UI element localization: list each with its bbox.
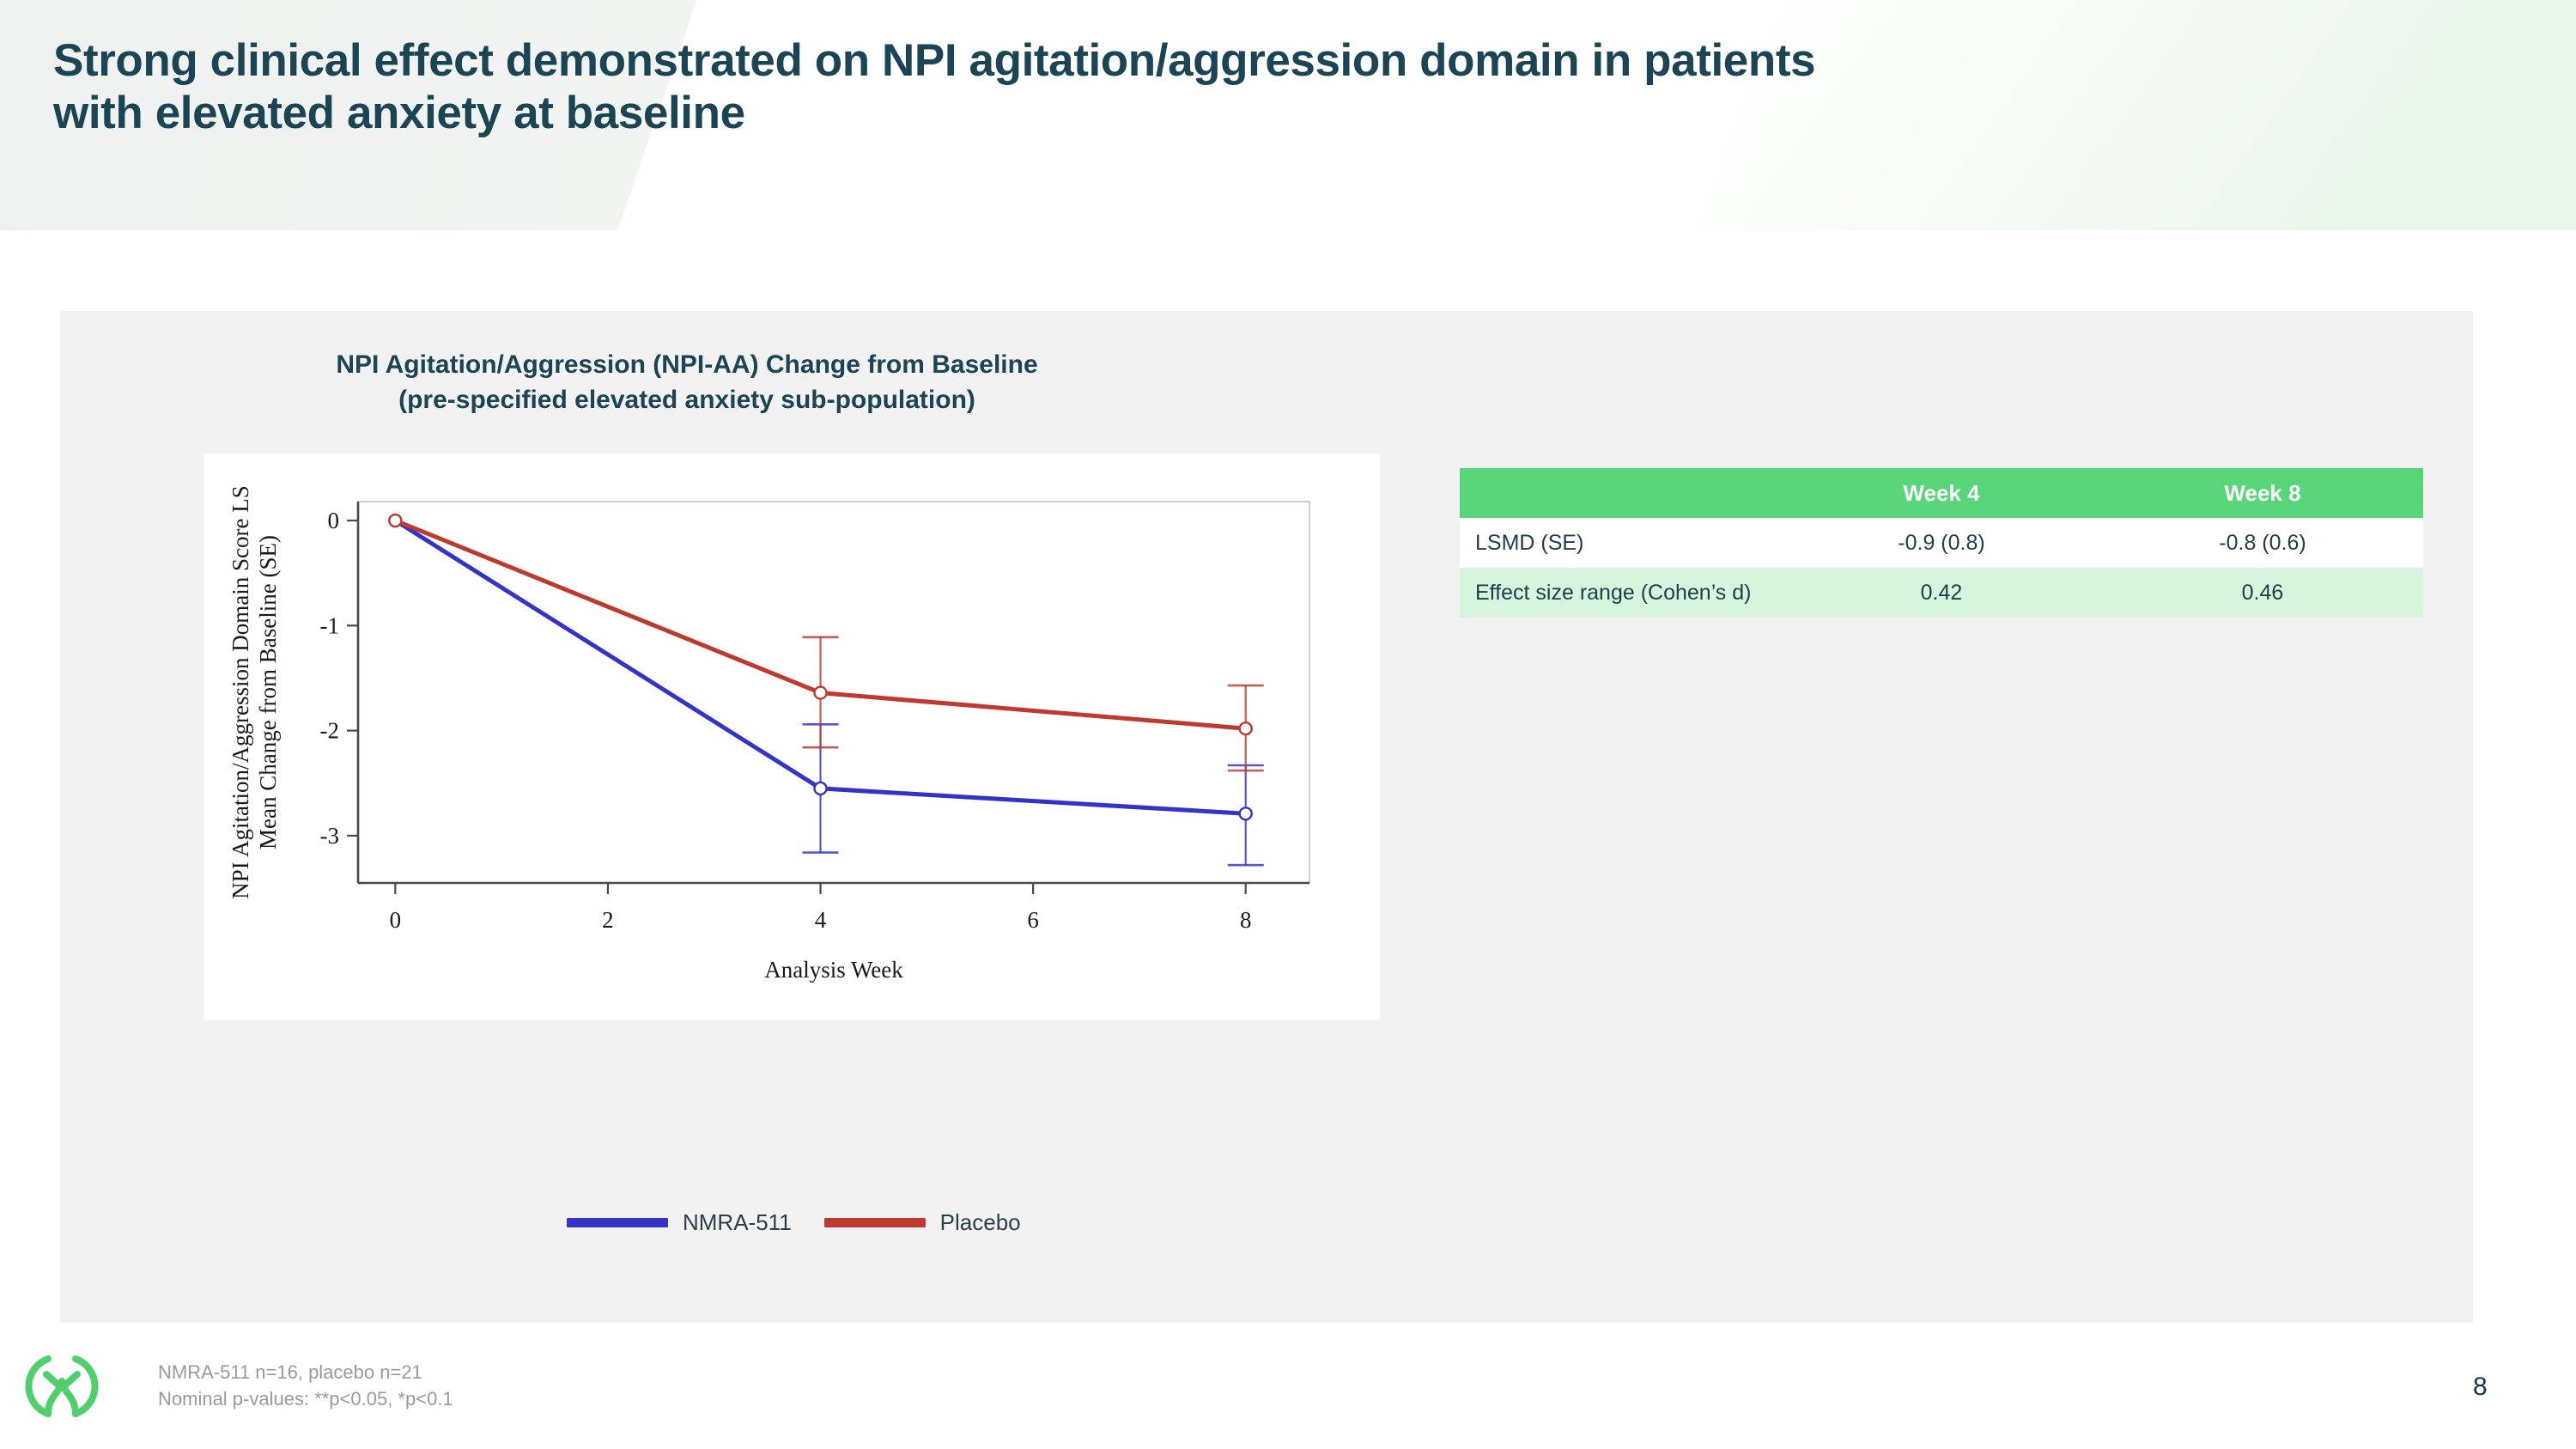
legend-item-treatment: NMRA-511 bbox=[567, 1209, 792, 1236]
slide-header: Strong clinical effect demonstrated on N… bbox=[0, 0, 2576, 230]
svg-text:8: 8 bbox=[1240, 907, 1252, 933]
svg-text:0: 0 bbox=[328, 508, 340, 533]
footnotes: NMRA-511 n=16, placebo n=21 Nominal p-va… bbox=[158, 1359, 453, 1412]
table-cell-label: Effect size range (Cohen’s d) bbox=[1460, 568, 1781, 618]
svg-text:-2: -2 bbox=[320, 718, 340, 744]
table-cell-label: LSMD (SE) bbox=[1460, 518, 1781, 568]
page-number: 8 bbox=[2473, 1373, 2488, 1402]
legend-label-treatment: NMRA-511 bbox=[683, 1209, 792, 1236]
table-row: Effect size range (Cohen’s d) 0.42 0.46 bbox=[1460, 568, 2423, 618]
chart-card: 024680-1-2-3Analysis WeekNPI Agitation/A… bbox=[204, 454, 1380, 1020]
table-header-blank bbox=[1460, 468, 1781, 518]
svg-text:4: 4 bbox=[815, 907, 827, 933]
results-table: Week 4 Week 8 LSMD (SE) -0.9 (0.8) -0.8 … bbox=[1460, 468, 2423, 618]
legend-swatch-placebo bbox=[824, 1218, 926, 1227]
svg-text:0: 0 bbox=[390, 907, 402, 933]
legend-label-placebo: Placebo bbox=[940, 1209, 1021, 1236]
table-cell-week8: 0.46 bbox=[2102, 568, 2423, 618]
table-header-week4: Week 4 bbox=[1781, 468, 2102, 518]
table-cell-week4: 0.42 bbox=[1781, 568, 2102, 618]
company-logo-icon bbox=[22, 1347, 101, 1426]
content-panel: NPI Agitation/Aggression (NPI-AA) Change… bbox=[60, 311, 2473, 1323]
svg-text:6: 6 bbox=[1027, 907, 1039, 933]
table-cell-week8: -0.8 (0.6) bbox=[2102, 518, 2423, 568]
svg-text:-1: -1 bbox=[320, 612, 340, 638]
page-title: Strong clinical effect demonstrated on N… bbox=[53, 34, 2423, 140]
svg-text:-3: -3 bbox=[320, 823, 340, 849]
table-row: LSMD (SE) -0.9 (0.8) -0.8 (0.6) bbox=[1460, 518, 2423, 568]
legend-swatch-treatment bbox=[567, 1218, 668, 1227]
chart-legend: NMRA-511 Placebo bbox=[567, 1209, 1021, 1236]
table-header-row: Week 4 Week 8 bbox=[1460, 468, 2423, 518]
table-header-week8: Week 8 bbox=[2102, 468, 2423, 518]
table-cell-week4: -0.9 (0.8) bbox=[1781, 518, 2102, 568]
svg-text:2: 2 bbox=[602, 907, 614, 933]
svg-text:Mean Change from Baseline (SE): Mean Change from Baseline (SE) bbox=[255, 535, 281, 849]
svg-text:Analysis Week: Analysis Week bbox=[764, 957, 903, 983]
legend-item-placebo: Placebo bbox=[824, 1209, 1021, 1236]
svg-text:NPI Agitation/Aggression Domai: NPI Agitation/Aggression Domain Score LS bbox=[228, 485, 253, 898]
line-chart: 024680-1-2-3Analysis WeekNPI Agitation/A… bbox=[204, 454, 1380, 1020]
chart-title: NPI Agitation/Aggression (NPI-AA) Change… bbox=[215, 347, 1159, 418]
